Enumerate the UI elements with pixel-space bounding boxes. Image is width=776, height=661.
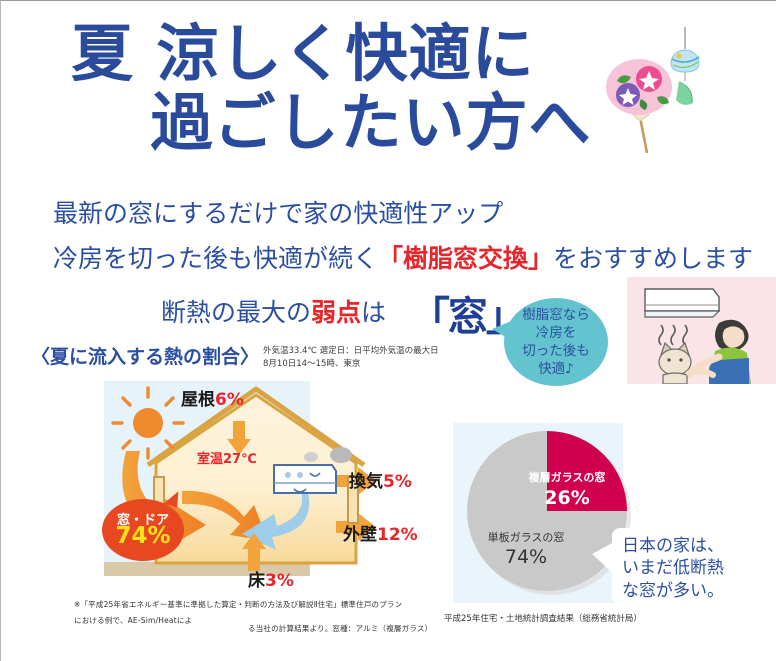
cool-air-lines [659,325,687,345]
heat-note-line-2: 8月10日14〜15時、東京 [263,358,439,371]
resin-window-callout: 樹脂窓なら 冷房を 切った後も 快適♪ [504,298,608,386]
page-title: 夏 涼しく快適に 過ごしたい方へ [71,19,631,158]
floor-label: 床3% [248,566,294,591]
room-temperature-label: 室温27℃ [197,448,257,467]
pie-chart-source: 平成25年住宅・土地統計調査結果（総務省統計局） [444,612,642,624]
woman-with-cat-illustration [627,277,776,384]
single-glass-name: 単板ガラスの窓 [488,531,565,544]
vent-label-text: 換気 [349,472,383,492]
wall-label-text: 外壁 [343,525,377,545]
glass-type-pie-chart [461,425,637,601]
vent-label: 換気5% [349,467,412,492]
subtitle-line-3-prefix: 断熱の最大の [161,298,311,327]
headline-line-2: 過ごしたい方へ [71,88,631,157]
window-door-callout: 窓・ドア 74% [102,499,184,561]
roof-label: 屋根6% [181,385,244,410]
heat-footnote-line-2: における例で、AE-Sim/Heatによ [74,615,192,626]
summer-decoration [587,25,727,165]
double-glass-value: 26% [521,487,613,509]
floor-label-text: 床 [248,571,265,591]
japan-line-3: な窓が多い。 [622,580,724,602]
subtitle-line-1: 最新の窓にするだけで家の快適性アップ [53,194,503,230]
heat-footnote-line-1: ※「平成25年省エネルギー基準に準拠した算定・判断の方法及び解説Ⅱ住宅」標準住戸… [74,599,402,610]
single-glass-label: 単板ガラスの窓 74% [471,529,581,568]
subtitle-line-2-prefix: 冷房を切った後も快適が続く [53,244,378,273]
wind-chime-furin [671,27,699,105]
subtitle-line-3-suffix: は [361,298,386,327]
white-bubble-tail [592,542,614,574]
japan-house-callout: 日本の家は、 いまだ低断熱 な窓が多い。 [612,528,772,604]
weakness-highlight: 弱点 [311,298,361,327]
japan-line-1: 日本の家は、 [622,535,724,557]
floor-label-value: 3% [265,571,294,591]
resin-window-callout-text: 樹脂窓なら 冷房を 切った後も 快適♪ [504,307,608,379]
teal-line-3: 切った後も [504,343,608,361]
roof-label-value: 6% [215,390,244,410]
teal-line-1: 樹脂窓なら [504,307,608,325]
resin-window-highlight: 「樹脂窓交換」 [378,244,553,273]
wall-label-value: 12% [377,525,418,545]
heat-note-line-1: 外気温33.4℃ 選定日：日平均外気温の最大日 [263,345,439,358]
sun-icon [113,388,183,458]
headline-line-1: 夏 涼しく快適に [71,19,631,88]
subtitle-line-2-suffix: をおすすめします [553,244,753,273]
japan-line-2: いまだ低断熱 [622,557,724,579]
teal-line-4: 快適♪ [504,361,608,379]
single-glass-value: 74% [471,546,581,568]
heat-chart-title: 〈夏に流入する熱の割合〉 [31,342,259,369]
air-conditioner-icon [645,289,719,317]
double-glass-name: 複層ガラスの窓 [529,471,606,484]
japan-house-callout-text: 日本の家は、 いまだ低断熱 な窓が多い。 [622,535,724,602]
heat-footnote-line-3: る当社の計算結果より。窓種：アルミ（複層ガラス） [248,623,432,634]
advertisement-page: 夏 涼しく快適に 過ごしたい方へ [0,0,776,661]
wall-label: 外壁12% [343,520,418,545]
heat-chart-note: 外気温33.4℃ 選定日：日平均外気温の最大日 8月10日14〜15時、東京 [263,345,439,371]
teal-line-2: 冷房を [504,325,608,343]
vent-label-value: 5% [383,472,412,492]
uchiwa-fan-icon [606,59,672,153]
window-door-value: 74% [102,525,184,548]
double-glass-label: 複層ガラスの窓 26% [521,469,613,509]
roof-label-text: 屋根 [181,390,215,410]
subtitle-line-3: 断熱の最大の弱点は 「窓」 [161,284,524,342]
subtitle-line-2: 冷房を切った後も快適が続く「樹脂窓交換」をおすすめします [53,239,753,275]
